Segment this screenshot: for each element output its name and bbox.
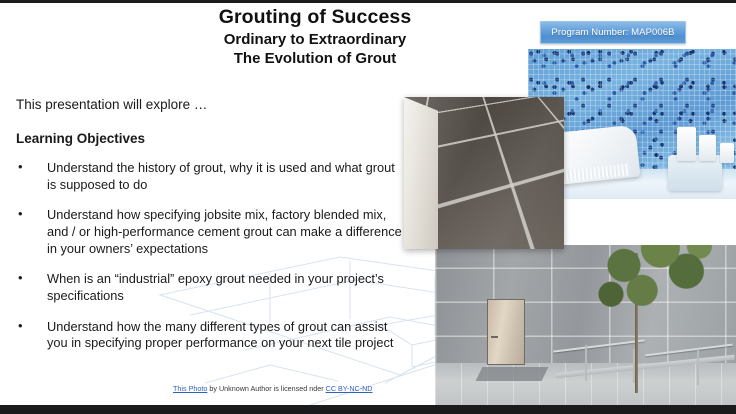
program-number-badge: Program Number: MAP006B [540, 21, 686, 44]
program-number-label: Program Number: MAP006B [551, 27, 674, 38]
candle-medium [699, 135, 716, 161]
facade-rail-post [585, 345, 587, 381]
image-stone-facade-exterior [435, 245, 736, 405]
candle-small [720, 143, 734, 163]
facade-metal-door [487, 299, 525, 365]
learning-objectives-heading: Learning Objectives [16, 131, 406, 146]
image-grey-floor-tile [404, 97, 564, 249]
this-photo-link[interactable]: This Photo [173, 384, 207, 393]
bullet-icon: • [18, 206, 23, 223]
facade-door-mat [476, 367, 549, 381]
list-item: • Understand how the many different type… [16, 319, 406, 352]
slide-title-block: Grouting of Success Ordinary to Extraord… [150, 6, 480, 68]
presentation-slide: Grouting of Success Ordinary to Extraord… [0, 0, 736, 414]
facade-rail-post [697, 349, 699, 385]
list-item-text: Understand how specifying jobsite mix, f… [47, 207, 402, 255]
intro-text: This presentation will explore … [16, 96, 406, 114]
bullet-icon: • [18, 159, 23, 176]
floor-sheen [404, 97, 564, 249]
photo-attribution: This Photo by Unknown Author is licensed… [173, 384, 372, 393]
objectives-list: • Understand the history of grout, why i… [16, 160, 406, 352]
list-item: • Understand the history of grout, why i… [16, 160, 406, 193]
list-item-text: Understand the history of grout, why it … [47, 160, 395, 192]
bullet-icon: • [18, 270, 23, 287]
letterbox-bar-bottom [0, 405, 736, 414]
list-item: • When is an “industrial” epoxy grout ne… [16, 271, 406, 304]
facade-tree-canopy [585, 245, 715, 323]
letterbox-bar-top [0, 0, 736, 3]
license-link[interactable]: CC BY-NC-ND [326, 384, 373, 393]
slide-body: This presentation will explore … Learnin… [16, 96, 406, 366]
candle-large [677, 127, 696, 161]
subtitle-line-2: The Evolution of Grout [150, 49, 480, 68]
bullet-icon: • [18, 318, 23, 335]
list-item: • Understand how specifying jobsite mix,… [16, 207, 406, 257]
attribution-middle-text: by Unknown Author is licensed nder [207, 384, 325, 393]
page-title: Grouting of Success [150, 6, 480, 30]
list-item-text: Understand how the many different types … [47, 319, 393, 351]
subtitle-line-1: Ordinary to Extraordinary [150, 30, 480, 49]
list-item-text: When is an “industrial” epoxy grout need… [47, 271, 384, 303]
